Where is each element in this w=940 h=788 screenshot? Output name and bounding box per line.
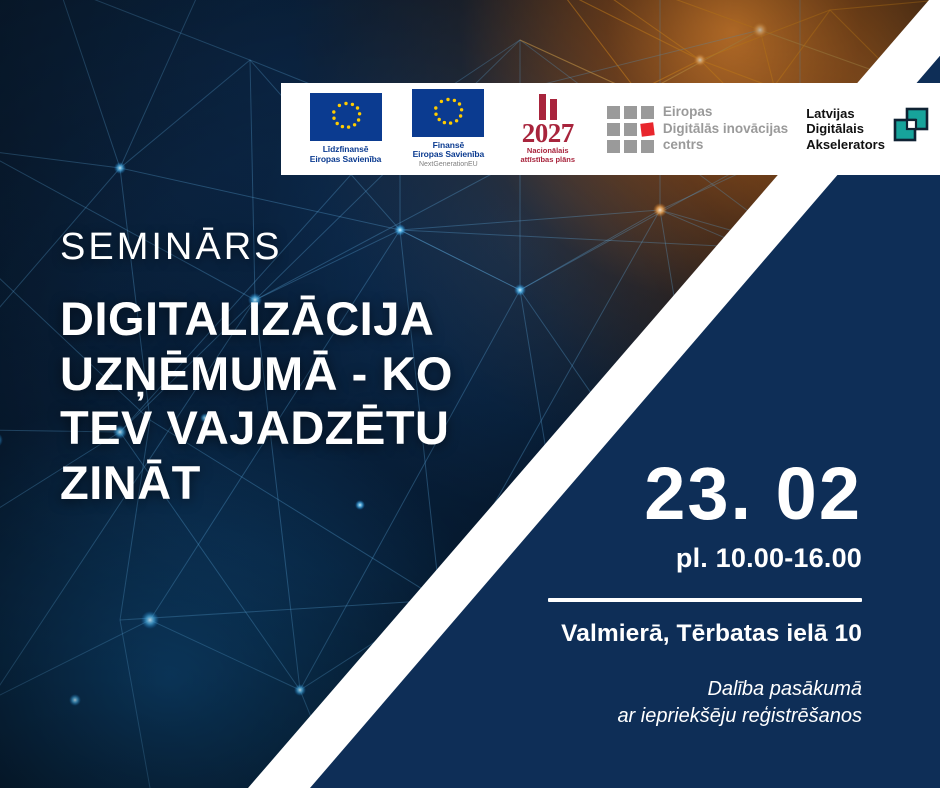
event-date: 23. 02 [532,458,862,531]
logo-lda: Latvijas Digitālais Akselerators [806,106,930,151]
registration-note: Dalība pasākumā ar iepriekšēju reģistrēš… [532,676,862,730]
registration-note-line-1: Dalība pasākumā [532,676,862,703]
lda-squares-glyph [892,106,930,144]
event-location: Valmierā, Tērbatas ielā 10 [532,620,862,648]
event-info-block: 23. 02 pl. 10.00-16.00 Valmierā, Tērbata… [532,458,862,730]
lda-line2: Digitālais [806,121,864,136]
lda-caption: Latvijas Digitālais Akselerators [806,106,885,151]
national-plan-caption: Nacionālais attīstības plāns [520,147,575,164]
eu-nextgen-line1: Finansē [433,140,464,150]
logo-edic: Eiropas Digitālās inovācijas centrs [607,104,788,153]
event-poster: Līdzfinansē Eiropas Savienība [0,0,940,788]
lda-line1: Latvijas [806,106,854,121]
national-plan-year: 2027 [522,121,574,147]
logo-national-plan: 2027 Nacionālais attīstības plāns [501,94,595,165]
national-plan-bars-icon [539,94,557,120]
headline-block: SEMINĀRS DIGITALIZĀCIJA UZŅĒMUMĀ - KO TE… [60,228,540,510]
seminar-kicker: SEMINĀRS [60,228,540,266]
info-divider [548,598,862,602]
eu-nextgen-sub: NextGenerationEU [413,161,485,169]
eu-stars-icon [310,93,382,141]
eu-flag-icon [310,93,382,141]
title-line-4: ZINĀT [60,456,540,511]
eu-cofinanced-line2: Eiropas Savienība [310,154,382,164]
edic-caption: Eiropas Digitālās inovācijas centrs [663,104,788,153]
title-line-3: TEV VAJADZĒTU [60,401,540,456]
edic-line2: Digitālās inovācijas [663,121,788,136]
page-title: DIGITALIZĀCIJA UZŅĒMUMĀ - KO TEV VAJADZĒ… [60,292,540,510]
logo-eu-nextgen-caption: Finansē Eiropas Savienība NextGeneration… [413,141,485,170]
title-line-2: UZŅĒMUMĀ - KO [60,347,540,402]
eu-stars-icon [412,89,484,137]
logo-eu-cofinanced-caption: Līdzfinansē Eiropas Savienība [310,145,382,165]
funding-logo-bar: Līdzfinansē Eiropas Savienība [281,83,940,175]
lda-line3: Akselerators [806,137,885,152]
event-time: pl. 10.00-16.00 [532,543,862,574]
edic-grid-icon [607,106,654,153]
eu-cofinanced-line1: Līdzfinansē [323,144,369,154]
title-line-1: DIGITALIZĀCIJA [60,292,540,347]
edic-line1: Eiropas [663,104,713,119]
eu-flag-icon [412,89,484,137]
registration-note-line-2: ar iepriekšēju reģistrēšanos [532,703,862,730]
logo-eu-cofinanced: Līdzfinansē Eiropas Savienība [295,93,396,165]
eu-nextgen-line2: Eiropas Savienība [413,149,485,159]
national-plan-line2: attīstības plāns [520,155,575,164]
lda-squares-icon [892,106,930,144]
logo-eu-nextgen: Finansē Eiropas Savienība NextGeneration… [396,89,501,170]
edic-line3: centrs [663,137,704,152]
